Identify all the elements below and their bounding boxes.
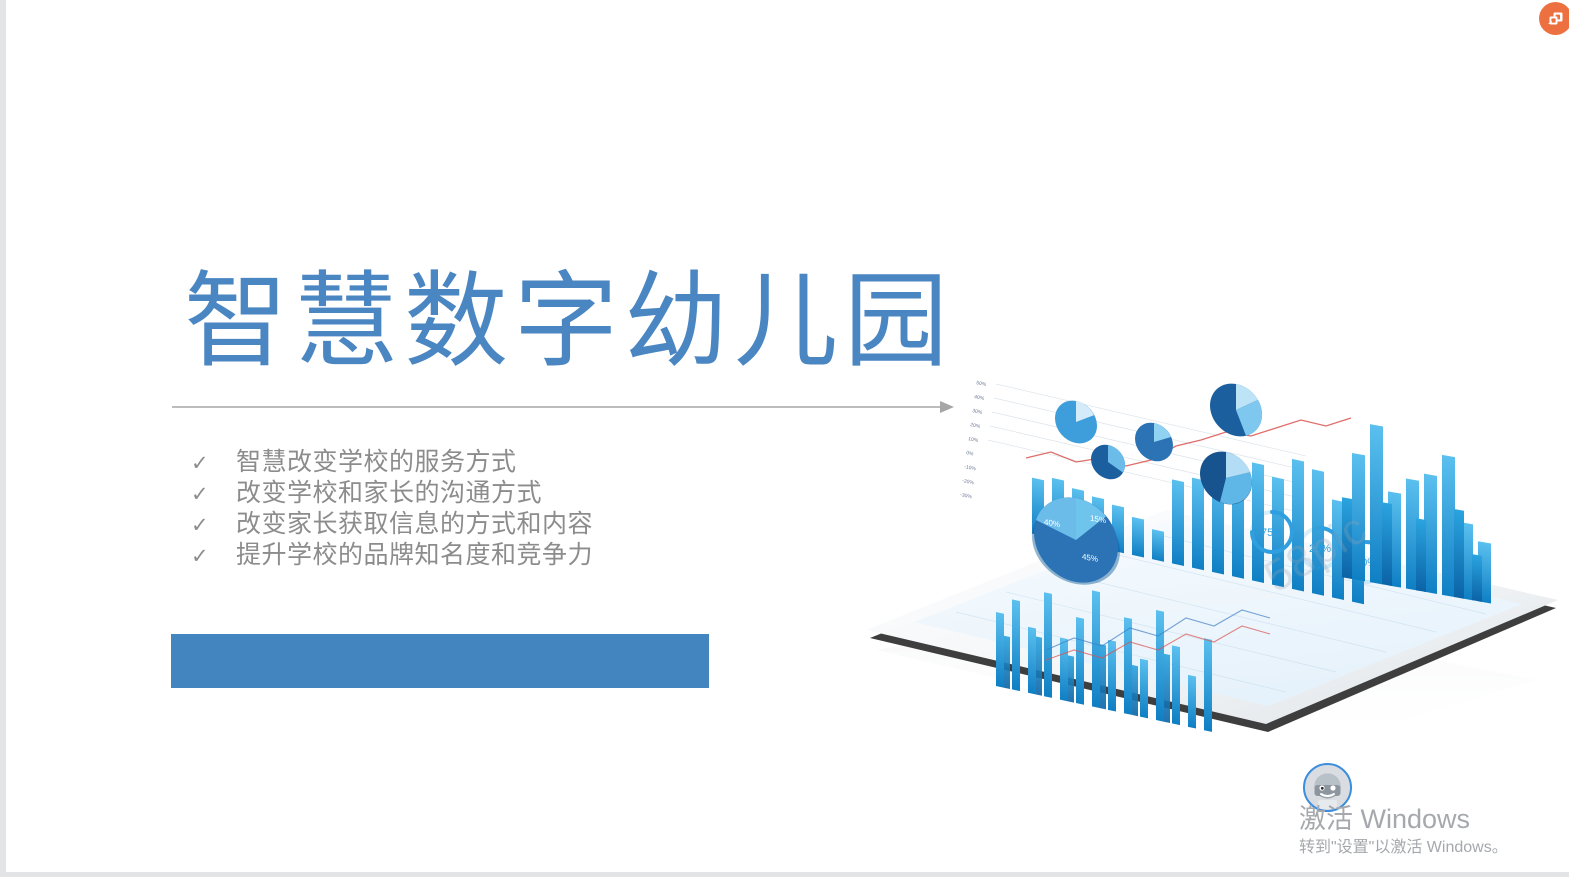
svg-text:40%: 40% bbox=[974, 394, 986, 402]
chart-axis-labels: 50% 40% 30% 20% 10% 0% -10% -20% -30% bbox=[960, 380, 988, 500]
bullet-list: ✓ 智慧改变学校的服务方式 ✓ 改变学校和家长的沟通方式 ✓ 改变家长获取信息的… bbox=[186, 442, 726, 566]
check-icon: ✓ bbox=[186, 482, 236, 507]
right-bar-chart bbox=[1342, 419, 1491, 603]
analytics-illustration-svg: 50% 40% 30% 20% 10% 0% -10% -20% -30% bbox=[836, 350, 1569, 770]
presentation-slide: 智慧数字幼儿园 ✓ 智慧改变学校的服务方式 ✓ 改变学校和家长的沟通方式 ✓ 改… bbox=[0, 0, 1569, 877]
svg-text:75%: 75% bbox=[1261, 527, 1283, 539]
assistant-avatar[interactable] bbox=[1303, 763, 1352, 812]
svg-text:20%: 20% bbox=[970, 422, 982, 430]
svg-text:-30%: -30% bbox=[960, 492, 973, 500]
check-icon: ✓ bbox=[186, 544, 236, 569]
check-icon: ✓ bbox=[186, 513, 236, 538]
ppt-convert-icon[interactable] bbox=[1539, 2, 1569, 35]
list-item: ✓ 改变家长获取信息的方式和内容 bbox=[186, 504, 726, 535]
pie-chart-group bbox=[1055, 379, 1262, 508]
svg-text:30%: 30% bbox=[972, 408, 984, 416]
list-item: ✓ 智慧改变学校的服务方式 bbox=[186, 442, 726, 473]
list-item: ✓ 提升学校的品牌知名度和竞争力 bbox=[186, 535, 726, 566]
svg-text:10%: 10% bbox=[968, 436, 980, 444]
svg-text:50%: 50% bbox=[976, 380, 988, 388]
activation-subtitle: 转到"设置"以激活 Windows。 bbox=[1299, 837, 1508, 859]
robot-icon bbox=[1305, 765, 1350, 810]
svg-text:-10%: -10% bbox=[964, 464, 977, 472]
check-icon: ✓ bbox=[186, 451, 236, 476]
accent-bar bbox=[171, 634, 709, 688]
svg-text:25%: 25% bbox=[1309, 543, 1331, 555]
ppt-convert-glyph bbox=[1546, 9, 1566, 29]
list-item: ✓ 改变学校和家长的沟通方式 bbox=[186, 473, 726, 504]
svg-text:0%: 0% bbox=[966, 450, 975, 457]
analytics-tablet-illustration: 50% 40% 30% 20% 10% 0% -10% -20% -30% bbox=[836, 350, 1569, 770]
svg-text:-20%: -20% bbox=[962, 478, 975, 486]
list-item-label: 提升学校的品牌知名度和竞争力 bbox=[236, 535, 593, 571]
